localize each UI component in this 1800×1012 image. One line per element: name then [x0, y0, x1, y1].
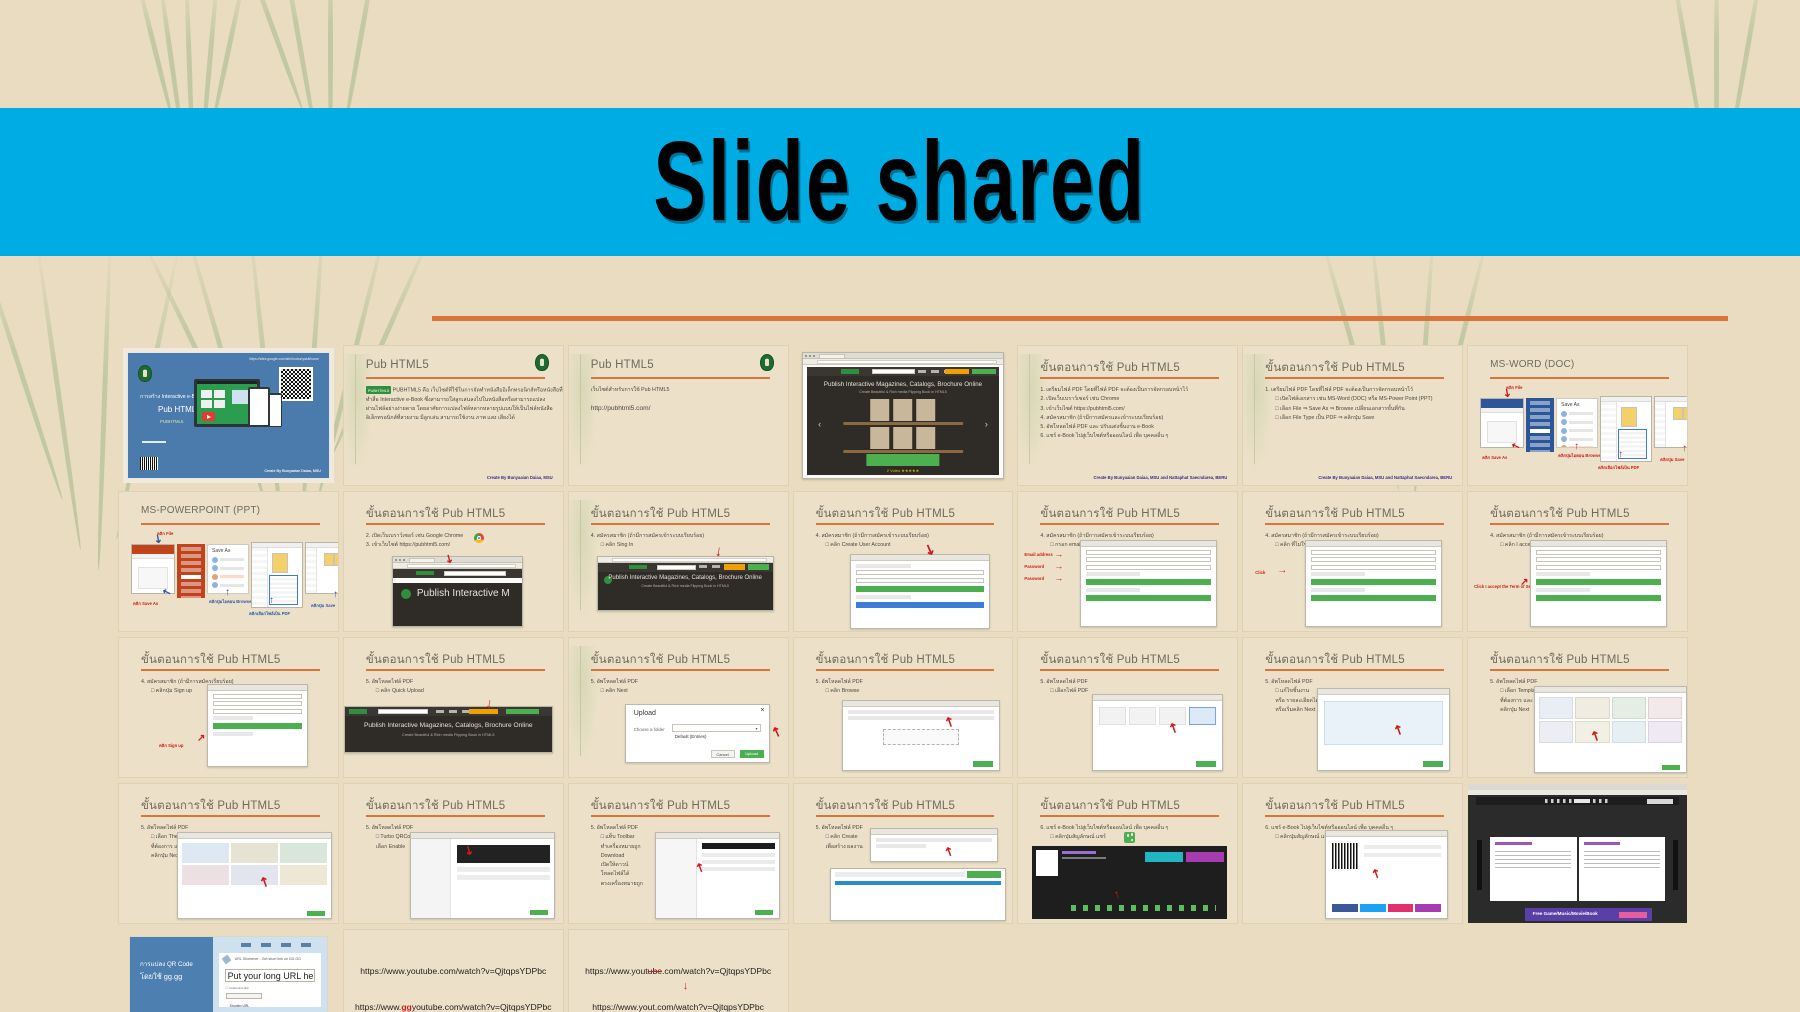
grid-empty-cell	[1242, 929, 1463, 1012]
file-tile[interactable]	[1129, 707, 1156, 725]
slide-thumbnail-url-compare-1[interactable]: https://www.youtube.com/watch?v=QjtqpsYD…	[343, 929, 564, 1012]
next-button[interactable]	[1423, 761, 1443, 767]
qr-code-slide: การแปลง QR Code โดยใช้ gg.gg URL Shorten…	[129, 936, 328, 1012]
slide-title: ขั้นตอนการใช้ Pub HTML5	[1040, 651, 1180, 669]
terms-row[interactable]	[1311, 588, 1365, 592]
slide-rule	[1040, 815, 1219, 817]
embed-book-button[interactable]	[1145, 852, 1183, 862]
signup-form-panel	[1305, 540, 1442, 627]
book-editor-panel	[1317, 688, 1450, 771]
hero-section: Publish Interactive Magazines, Catalogs,…	[345, 716, 552, 752]
slide-title: ขั้นตอนการใช้ Pub HTML5	[1490, 505, 1630, 523]
powerpoint-backstage-menu	[177, 544, 205, 598]
play-button-icon	[202, 412, 215, 421]
slide-rule	[816, 669, 995, 671]
template-grid[interactable]	[1539, 697, 1682, 743]
slide-rule	[1265, 377, 1444, 379]
recaptcha-checkbox[interactable]	[1311, 572, 1365, 576]
settings-panel	[410, 832, 555, 919]
panel-row	[848, 710, 995, 714]
slide-body: 2. เปิดเว็บเบราว์เซอร์ เช่น Google Chrom…	[366, 532, 549, 551]
slide-thumbnail-step-5-qrcode-setting[interactable]: ขั้นตอนการใช้ Pub HTML5 5. อัพโหลดไฟล์ P…	[343, 783, 564, 924]
powerpoint-ribbon	[132, 545, 174, 554]
template-tile[interactable]	[1612, 697, 1646, 719]
progress-bar	[835, 881, 1002, 885]
annotation-click-save: คลิกปุ่ม Save	[311, 602, 335, 609]
customize-link-checkbox[interactable]: ☐ Customize link	[226, 986, 249, 990]
signup-form-panel	[1080, 540, 1217, 627]
slide-thumbnail-step-1-detail[interactable]: ขั้นตอนการใช้ Pub HTML5 1. เตรียมไฟล์ PD…	[1242, 345, 1463, 486]
annotation-arrow-icon: ↑	[225, 588, 230, 598]
password-field[interactable]	[1086, 557, 1211, 562]
slide-rule	[1265, 815, 1444, 817]
slide-thumbnail-step-4-signup[interactable]: ขั้นตอนการใช้ Pub HTML5 4. สมัครสมาชิก (…	[118, 637, 339, 778]
confirm-password-field[interactable]	[213, 709, 302, 714]
struck-segment: ube	[648, 966, 662, 976]
file-picker-grid	[1092, 694, 1223, 771]
drop-zone[interactable]	[883, 729, 958, 745]
book-preview	[1324, 701, 1443, 745]
annotation-arrow-icon: ↑	[269, 596, 274, 606]
slide-thumbnail-step-5-select-file[interactable]: ขั้นตอนการใช้ Pub HTML5 5. อัพโหลดไฟล์ P…	[1017, 637, 1238, 778]
long-url-input[interactable]: Put your long URL here...	[225, 969, 315, 982]
slide-thumbnail-step-5-upload-dialog[interactable]: ขั้นตอนการใช้ Pub HTML5 5. อัพโหลดไฟล์ P…	[568, 637, 789, 778]
slide-body: เว็บไซต์สำหรับการใช้ Pub HTML5 http://pu…	[591, 386, 774, 415]
slide-thumbnail-step-4-signin[interactable]: ขั้นตอนการใช้ Pub HTML5 4. สมัครสมาชิก (…	[568, 491, 789, 632]
book-meta-line	[1062, 857, 1106, 859]
cancel-button[interactable]: Cancel	[711, 750, 735, 758]
close-icon[interactable]: ×	[760, 707, 764, 714]
template-tile[interactable]	[1539, 721, 1573, 743]
template-tile[interactable]	[1612, 721, 1646, 743]
qr-slide-left-panel: การแปลง QR Code โดยใช้ gg.gg	[130, 937, 213, 1012]
recaptcha-checkbox[interactable]	[213, 716, 253, 720]
folder-select[interactable]: Default (Entries) ▾	[672, 724, 761, 732]
hero-section: Publish Interactive M	[393, 583, 522, 626]
hero-headline: Publish Interactive Magazines, Catalogs,…	[345, 722, 552, 729]
grid-empty-cell	[1017, 929, 1238, 1012]
slide-title: ขั้นตอนการใช้ Pub HTML5	[366, 505, 506, 523]
signup-button[interactable]	[1086, 579, 1211, 585]
slide-thumbnail-step-6-share[interactable]: ขั้นตอนการใช้ Pub HTML5 6. แชร์ e-Book ไ…	[1017, 783, 1238, 924]
slide-credit: Create By Bunyaaian Daiaa, MSU and Natta…	[1093, 475, 1227, 480]
sign-in-button[interactable]	[748, 564, 769, 570]
slide-rule	[1040, 377, 1219, 379]
slide-title: ขั้นตอนการใช้ Pub HTML5	[591, 797, 731, 815]
slide-rule	[1490, 377, 1669, 379]
powerpoint-tabs	[132, 554, 174, 559]
modified-youtube-url: https://www.ggyoutube.com/watch?v=Qjtqps…	[344, 1002, 563, 1012]
slide-rule	[141, 815, 320, 817]
slide-thumbnail-step-5-create[interactable]: ขั้นตอนการใช้ Pub HTML5 5. อัพโหลดไฟล์ P…	[793, 783, 1014, 924]
download-book-button[interactable]	[1186, 852, 1224, 862]
slide-thumbnail-step-5-toolbar[interactable]: ขั้นตอนการใช้ Pub HTML5 5. อัพโหลดไฟล์ P…	[568, 783, 789, 924]
signup-form-panel	[207, 684, 308, 767]
slide-thumbnail-what-is-pubhtml5[interactable]: Pub HTML5 PUBHTML5 PUBHTML5 คือ เว็บไซต์…	[343, 345, 564, 486]
recaptcha-checkbox[interactable]	[1536, 572, 1590, 576]
slide-thumbnail-step-4-accept[interactable]: ขั้นตอนการใช้ Pub HTML5 4. สมัครสมาชิก (…	[1467, 491, 1688, 632]
theme-tile[interactable]	[231, 865, 278, 885]
terms-row[interactable]	[1536, 588, 1590, 592]
slide-thumbnail-step-5-edit[interactable]: ขั้นตอนการใช้ Pub HTML5 5. อัพโหลดไฟล์ P…	[1242, 637, 1463, 778]
social-buttons-row[interactable]	[1332, 904, 1441, 912]
setting-row[interactable]	[457, 867, 550, 872]
setting-row[interactable]	[702, 853, 774, 857]
panel-header	[208, 685, 307, 691]
grid-empty-cell	[793, 929, 1014, 1012]
modified-youtube-url: https://www.yout.com/watch?v=QjtqpsYDPbc	[569, 1002, 788, 1012]
slide-title: ขั้นตอนการใช้ Pub HTML5	[1265, 505, 1405, 523]
slide-thumbnail-flipbook-viewer[interactable]: Free Game/Music/Movie/Book	[1467, 783, 1688, 924]
word-tabs	[1481, 408, 1523, 413]
sign-in-submit-button[interactable]	[856, 586, 985, 592]
slide-rule	[1040, 523, 1219, 525]
recaptcha-row[interactable]	[1086, 572, 1140, 576]
terms-row[interactable]	[1086, 588, 1140, 592]
ad-download-button[interactable]	[1619, 912, 1647, 918]
slide-thumbnail-ms-powerpoint[interactable]: MS-POWERPOINT (PPT) คลิก File ↘ คลิก Sav…	[118, 491, 339, 632]
accept-terms-button[interactable]	[1086, 595, 1211, 601]
slide-thumbnail-homepage-screenshot[interactable]: Publish Interactive Magazines, Catalogs,…	[793, 345, 1014, 486]
annotation-browse: คลิกปุ่มไอคอน Browse	[209, 598, 251, 605]
terms-row[interactable]	[213, 732, 253, 736]
password-field[interactable]	[1311, 557, 1436, 562]
email-field[interactable]	[1536, 550, 1661, 555]
slide-body: 1. เตรียมไฟล์ PDF โดยที่ไฟล์ PDF จะต้องเ…	[1265, 386, 1448, 423]
theme-grid[interactable]	[182, 843, 327, 885]
slide-rule	[1040, 669, 1219, 671]
slide-title: Pub HTML5	[591, 359, 654, 371]
book-info-panel	[870, 828, 999, 862]
slide-thumbnail-step-5-template[interactable]: ขั้นตอนการใช้ Pub HTML5 5. อัพโหลดไฟล์ P…	[1467, 637, 1688, 778]
gg-gg-screenshot: URL Shortener - Get short link on GG.GG …	[213, 937, 327, 1012]
search-input[interactable]	[657, 565, 695, 570]
slide-thumbnail-step-2-3[interactable]: ขั้นตอนการใช้ Pub HTML5 2. เปิดเว็บเบราว…	[343, 491, 564, 632]
flipbook-share-bar	[1032, 846, 1227, 919]
panel-header	[1531, 541, 1666, 547]
annotation-arrow-icon: →	[1054, 550, 1063, 559]
flipbook-toolbar[interactable]	[1476, 797, 1679, 805]
panel-label	[856, 564, 912, 568]
file-tile-selected[interactable]	[1189, 707, 1216, 725]
next-button[interactable]	[1662, 765, 1680, 770]
site-top-nav[interactable]	[241, 943, 321, 947]
email-field[interactable]	[1086, 550, 1211, 555]
slide-rule	[141, 523, 320, 525]
hero-headline: Publish Interactive Magazines, Catalogs,…	[598, 575, 773, 581]
carousel-next-icon[interactable]: ›	[985, 419, 988, 429]
site-navbar	[807, 367, 1000, 376]
open-button[interactable]	[1196, 761, 1216, 767]
template-tile[interactable]	[1648, 721, 1682, 743]
slide-rule	[366, 377, 545, 379]
signup-button[interactable]	[213, 723, 302, 729]
accept-terms-button[interactable]	[1536, 595, 1661, 601]
pubhtml5-logo-icon	[629, 565, 647, 570]
panel-header	[178, 833, 331, 839]
create-progress-panel	[830, 868, 1007, 921]
file-grid[interactable]	[1099, 707, 1216, 725]
cover-divider	[142, 441, 166, 443]
annotation-arrow-icon: ↑	[1682, 444, 1687, 454]
search-input[interactable]	[444, 571, 506, 576]
quick-upload-button[interactable]	[469, 709, 498, 715]
pubhtml5-logo-icon	[841, 369, 859, 374]
progress-label	[835, 872, 966, 877]
hero-cta-button[interactable]	[866, 454, 939, 466]
download-toggle-row[interactable]	[702, 867, 774, 871]
hero-headline-partial: Publish Interactive M	[417, 588, 510, 599]
page-number-box[interactable]	[1574, 799, 1590, 803]
flipbook-viewer: Free Game/Music/Movie/Book	[1468, 784, 1687, 923]
setting-row[interactable]	[457, 875, 550, 880]
navbar-screenshot: Publish Interactive Magazines, Catalogs,…	[344, 706, 553, 753]
shorten-url-button[interactable]: Shorten URL	[226, 993, 263, 999]
page-title: Slide shared	[654, 117, 1147, 248]
theme-tile[interactable]	[231, 843, 278, 863]
slide-thumbnail-step-5-browse[interactable]: ขั้นตอนการใช้ Pub HTML5 5. อัพโหลดไฟล์ P…	[793, 637, 1014, 778]
slide-thumbnail-step-5-theme[interactable]: ขั้นตอนการใช้ Pub HTML5 5. อัพโหลดไฟล์ P…	[118, 783, 339, 924]
password-field[interactable]	[213, 701, 302, 706]
file-explorer-save-dialog	[251, 542, 303, 608]
link-icon	[221, 955, 231, 965]
upload-submit-button[interactable]: Upload	[740, 750, 764, 758]
slide-thumbnail-step-4-terms[interactable]: ขั้นตอนการใช้ Pub HTML5 4. สมัครสมาชิก (…	[1242, 491, 1463, 632]
slide-title: ขั้นตอนการใช้ Pub HTML5	[591, 505, 731, 523]
slide-thumbnail-steps-list[interactable]: ขั้นตอนการใช้ Pub HTML5 1. เตรียมไฟล์ PD…	[1017, 345, 1238, 486]
facebook-share-button[interactable]	[1332, 904, 1358, 912]
university-crest-icon	[535, 354, 549, 371]
accept-terms-button[interactable]	[1311, 595, 1436, 601]
hero-section: Publish Interactive Magazines, Catalogs,…	[598, 572, 773, 610]
slide-title: ขั้นตอนการใช้ Pub HTML5	[816, 797, 956, 815]
annotation-arrow-icon: →	[1054, 562, 1063, 571]
more-share-button[interactable]	[1415, 904, 1441, 912]
shortener-label: URL Shortener - Get short link on GG.GG	[235, 957, 301, 961]
slide-title: ขั้นตอนการใช้ Pub HTML5	[591, 651, 731, 669]
confirm-password-field[interactable]	[1086, 565, 1211, 570]
browser-address-bar	[803, 359, 1004, 365]
cover-line-3: PUBHTML5	[160, 419, 183, 424]
annotation-arrow-icon: ↑	[1574, 442, 1579, 452]
email-field[interactable]	[856, 570, 985, 575]
settings-sidebar[interactable]	[411, 839, 451, 918]
annotation-browse: คลิกปุ่มไอคอน Browse	[1558, 452, 1600, 459]
signup-button[interactable]	[1311, 579, 1436, 585]
sign-in-button[interactable]	[972, 369, 995, 375]
browse-button[interactable]	[973, 761, 993, 767]
instagram-share-button[interactable]	[1388, 904, 1414, 912]
template-tile[interactable]	[1648, 697, 1682, 719]
slide-credit: Create By Bunyaaian Daiaa, MSU and Natta…	[1318, 475, 1452, 480]
theme-tile[interactable]	[182, 865, 229, 885]
ad-text: Free Game/Music/Movie/Book	[1533, 911, 1598, 916]
hero-section: Publish Interactive Magazines, Catalogs,…	[807, 367, 1000, 475]
slide-title: ขั้นตอนการใช้ Pub HTML5	[1490, 651, 1630, 669]
slide-body: 5. อัพโหลดไฟล์ PDF □ คลิก Browse	[816, 678, 999, 697]
theme-tile[interactable]	[280, 865, 327, 885]
next-button[interactable]	[307, 911, 325, 916]
phone-illustration	[268, 393, 282, 427]
signup-button[interactable]	[1536, 579, 1661, 585]
password-field[interactable]	[856, 578, 985, 583]
url-compare-slide: https://www.youtube.com/watch?v=QjtqpsYD…	[344, 930, 563, 1012]
cover-slide: https://sites.google.com/site/krubunyasi…	[127, 352, 330, 479]
upload-dialog: Upload × Choose a folder Default (Entrie…	[625, 704, 770, 763]
annotation-arrow-icon: ↗	[1520, 578, 1528, 588]
share-link-row[interactable]	[1364, 845, 1441, 849]
next-page-button[interactable]	[1673, 840, 1678, 890]
slide-thumbnail-step-6-share-dialog[interactable]: ขั้นตอนการใช้ Pub HTML5 6. แชร์ e-Book ไ…	[1242, 783, 1463, 924]
annotation-click-signup: คลิก Sign up	[159, 742, 183, 749]
slide-body: 4. สมัครสมาชิก (ถ้ามีการสมัครเข้าระบบเรี…	[591, 532, 774, 551]
toolbar-preview	[702, 843, 774, 849]
annotation-file-type-pdf: คลิกเลือกไฟล์เป็น PDF	[1598, 464, 1639, 471]
panel-header	[843, 701, 1000, 707]
pubhtml5-logo-icon	[416, 571, 434, 576]
slide-body: 5. อัพโหลดไฟล์ PDF □ คลิก Next	[591, 678, 774, 697]
panel-row	[876, 844, 927, 848]
annotation-arrow-icon: →	[1277, 566, 1287, 576]
upload-dialog-title: Upload	[634, 710, 656, 717]
slide-rule	[816, 523, 995, 525]
email-field[interactable]	[1311, 550, 1436, 555]
theme-gallery	[177, 832, 332, 919]
word-ribbon	[1481, 399, 1523, 408]
file-explorer-confirm	[305, 542, 338, 594]
slide-rule	[591, 523, 770, 525]
theme-tile[interactable]	[280, 843, 327, 863]
browser-address-bar	[1468, 790, 1687, 795]
advertisement-banner[interactable]: Free Game/Music/Movie/Book	[1525, 908, 1652, 921]
slide-shared-banner: Slide shared	[0, 108, 1800, 256]
annotation-arrow-icon: ↗	[197, 734, 205, 744]
bookshelf-row-2	[843, 427, 963, 453]
slide-thumbnail-site-url[interactable]: Pub HTML5 เว็บไซต์สำหรับการใช้ Pub HTML5…	[568, 345, 789, 486]
annotation-file-type-pdf: คลิกเลือกไฟล์เป็น PDF	[249, 610, 290, 617]
slide-body: 5. อัพโหลดไฟล์ PDF □ คลิก Quick Upload	[366, 678, 549, 697]
bookshelf-row-1	[843, 399, 963, 425]
slide-title: ขั้นตอนการใช้ Pub HTML5	[1265, 359, 1405, 377]
template-gallery	[1534, 686, 1687, 773]
share-toolbar-icons[interactable]	[1071, 905, 1215, 911]
signup-form-panel	[1530, 540, 1667, 627]
book-cover-thumb	[1036, 850, 1058, 876]
twitter-share-button[interactable]	[1360, 904, 1386, 912]
hero-subheadline: Create Beautiful & Rich media Flipping B…	[598, 584, 773, 588]
slide-thumbnail-step-5-quick-upload[interactable]: ขั้นตอนการใช้ Pub HTML5 5. อัพโหลดไฟล์ P…	[343, 637, 564, 778]
panel-header	[851, 555, 990, 561]
annotation-click-save-as: คลิก Save As	[133, 600, 158, 607]
pubhtml5-badge: PUBHTML5	[366, 386, 391, 394]
word-page	[1487, 421, 1517, 443]
slide-rule	[591, 815, 770, 817]
pubhtml5-homepage-browser: Publish Interactive Magazines, Catalogs,…	[802, 352, 1005, 479]
search-input[interactable]	[378, 709, 428, 714]
site-navbar	[598, 563, 773, 572]
university-crest-icon	[138, 365, 152, 382]
panel-header	[1093, 695, 1222, 701]
slide-title: ขั้นตอนการใช้ Pub HTML5	[366, 651, 506, 669]
next-button[interactable]	[755, 910, 773, 915]
grid-empty-cell	[1467, 929, 1688, 1012]
original-youtube-url: https://www.youtube.com/watch?v=QjtqpsYD…	[569, 966, 788, 976]
password-field[interactable]	[1536, 557, 1661, 562]
confirm-password-field[interactable]	[1311, 565, 1436, 570]
setting-row[interactable]	[702, 860, 774, 864]
annotation-password-2: Password	[1024, 576, 1044, 581]
annotation-click-save: คลิกปุ่ม Save	[1660, 456, 1684, 463]
site-navbar	[393, 569, 522, 578]
create-user-account-button[interactable]	[856, 602, 985, 608]
search-input[interactable]	[1647, 799, 1673, 804]
chrome-browser-mock: Publish Interactive M	[392, 556, 523, 627]
chrome-logo-icon	[474, 533, 484, 543]
slide-thumbnail-url-compare-2[interactable]: https://www.youtube.com/watch?v=QjtqpsYD…	[568, 929, 789, 1012]
page-right	[1579, 837, 1666, 901]
share-link-row[interactable]	[1364, 853, 1441, 857]
file-tile[interactable]	[1099, 707, 1126, 725]
slide-rule	[1490, 669, 1669, 671]
slide-title: ขั้นตอนการใช้ Pub HTML5	[1040, 797, 1180, 815]
slide-title: ขั้นตอนการใช้ Pub HTML5	[141, 651, 281, 669]
page-left	[1490, 837, 1577, 901]
original-youtube-url: https://www.youtube.com/watch?v=QjtqpsYD…	[344, 966, 563, 976]
next-button[interactable]	[530, 910, 548, 915]
url-compare-slide: https://www.youtube.com/watch?v=QjtqpsYD…	[569, 930, 788, 1012]
annotation-arrow-icon: ↘	[769, 725, 784, 741]
template-tile[interactable]	[1575, 697, 1609, 719]
university-crest-icon	[760, 354, 774, 371]
quick-upload-button[interactable]	[724, 564, 745, 570]
template-tile[interactable]	[1539, 697, 1573, 719]
slide-title: ขั้นตอนการใช้ Pub HTML5	[1265, 651, 1405, 669]
slide-rule	[366, 815, 545, 817]
confirm-password-field[interactable]	[1536, 565, 1661, 570]
slide-thumbnail-step-4-credentials[interactable]: ขั้นตอนการใช้ Pub HTML5 4. สมัครสมาชิก (…	[1017, 491, 1238, 632]
quick-upload-button[interactable]	[945, 369, 968, 375]
theme-tile[interactable]	[182, 843, 229, 863]
panel-header	[1306, 541, 1441, 547]
slide-title: ขั้นตอนการใช้ Pub HTML5	[1040, 505, 1180, 523]
shortener-card: URL Shortener - Get short link on GG.GG …	[219, 953, 321, 1007]
carousel-prev-icon[interactable]: ‹	[818, 419, 821, 429]
create-account-link[interactable]	[856, 595, 912, 599]
slide-thumbnail-cover[interactable]: https://sites.google.com/site/krubunyasi…	[118, 345, 339, 486]
slide-rule	[366, 669, 545, 671]
navbar-screenshot: Publish Interactive Magazines, Catalogs,…	[597, 556, 774, 611]
share-icon	[1124, 832, 1135, 843]
slide-rule	[816, 815, 995, 817]
search-input[interactable]	[872, 369, 914, 374]
file-explorer-confirm	[1654, 396, 1687, 448]
slide-title: ขั้นตอนการใช้ Pub HTML5	[816, 505, 956, 523]
slide-title: ขั้นตอนการใช้ Pub HTML5	[1040, 359, 1180, 377]
create-button[interactable]	[967, 871, 1001, 878]
tablet-illustration	[248, 387, 270, 427]
slide-body: 4. สมัครสมาชิก (ถ้ามีการสมัครเข้าระบบเรี…	[816, 532, 999, 551]
slide-thumbnail-step-4-create-account[interactable]: ขั้นตอนการใช้ Pub HTML5 4. สมัครสมาชิก (…	[793, 491, 1014, 632]
qr-code-icon	[279, 367, 313, 401]
toolbar-sidebar[interactable]	[656, 839, 698, 918]
email-field[interactable]	[213, 694, 302, 699]
hero-subheadline: Create Beautiful & Rich media Flipping B…	[807, 390, 1000, 394]
slide-thumbnail-ms-word[interactable]: MS-WORD (DOC) คลิก File ↘ คลิก Save As ↖…	[1467, 345, 1688, 486]
sign-in-button[interactable]	[506, 709, 539, 715]
slide-rule	[1265, 669, 1444, 671]
slide-thumbnail-qr-gg-gg[interactable]: การแปลง QR Code โดยใช้ gg.gg URL Shorten…	[118, 929, 339, 1012]
prev-page-button[interactable]	[1477, 840, 1482, 890]
